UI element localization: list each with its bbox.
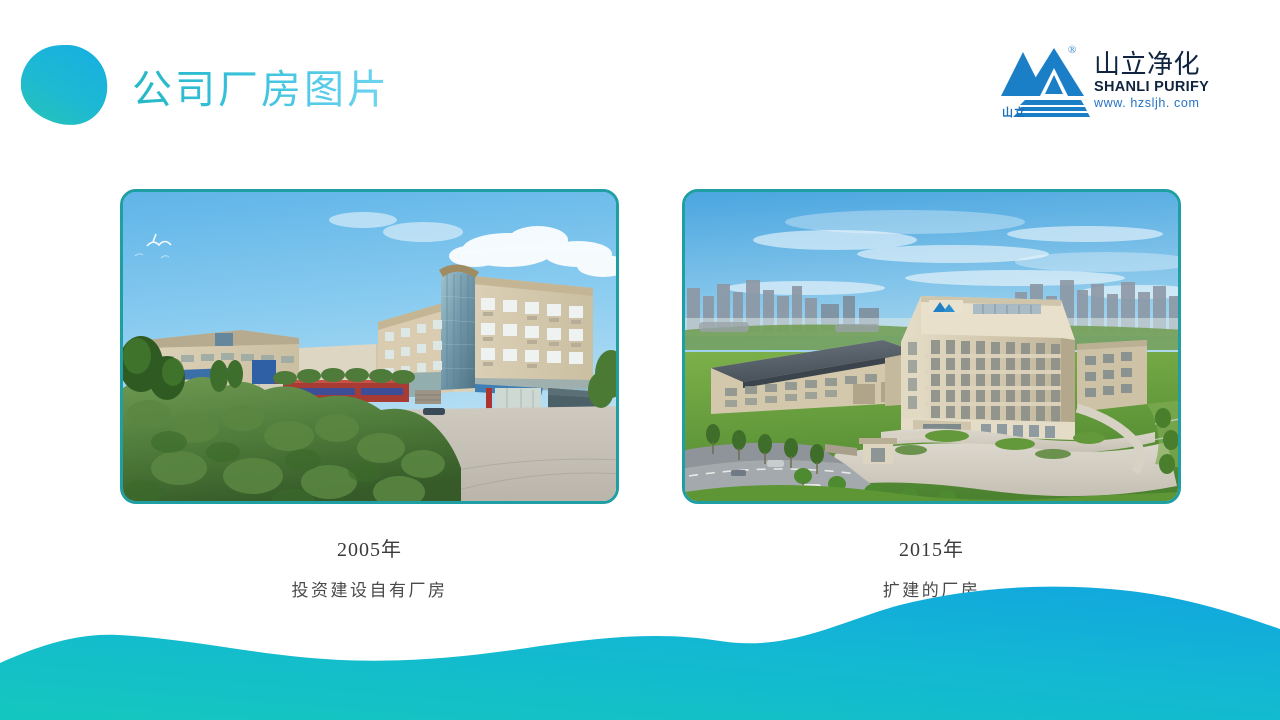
logo-wordmark: 山立净化 SHANLI PURIFY www. hzsljh. com (1094, 50, 1218, 111)
caption-year-2005: 2005年 (120, 536, 619, 564)
decorative-blob-shape (21, 44, 111, 126)
registered-trademark-icon: ® (1068, 44, 1076, 56)
logo-company-name-cn: 山立净化 (1094, 50, 1218, 79)
photo-card-2015[interactable] (682, 189, 1181, 504)
bottom-wave-decoration (0, 585, 1280, 720)
logo-company-name-en: SHANLI PURIFY (1094, 79, 1218, 96)
factory-photo-2005 (123, 192, 616, 501)
slide-canvas: 公司厂房图片 (0, 0, 1280, 720)
page-title: 公司厂房图片 (132, 62, 390, 118)
company-logo: ® 山立 山立净化 SHANLI PURIFY www. hzsljh. com (996, 42, 1218, 124)
logo-sub-mark-label: 山立 (1002, 104, 1026, 120)
photo-card-2005[interactable] (120, 189, 619, 504)
caption-year-2015: 2015年 (682, 536, 1181, 564)
factory-photo-2015 (685, 192, 1178, 501)
logo-website-url: www. hzsljh. com (1094, 96, 1218, 111)
